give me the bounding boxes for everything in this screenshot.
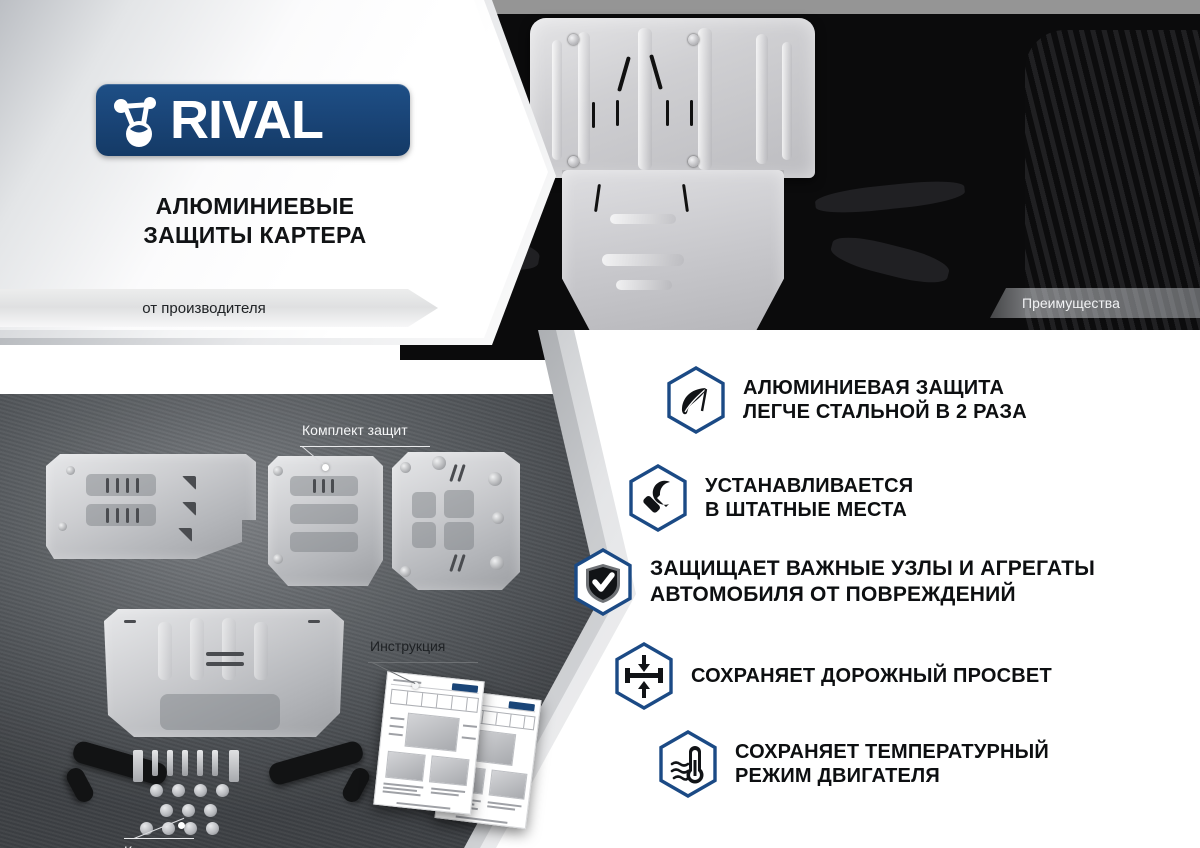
shield-check-icon xyxy=(572,548,634,616)
hardware-washer xyxy=(184,822,197,835)
hardware-screw xyxy=(197,750,203,776)
thermometer-icon xyxy=(657,730,719,798)
feature-item-protection: ЗАЩИЩАЕТ ВАЖНЫЕ УЗЛЫ И АГРЕГАТЫ АВТОМОБИ… xyxy=(572,548,1095,616)
hardware-screw xyxy=(212,750,218,776)
feature-item-fitment: УСТАНАВЛИВАЕТСЯ В ШТАТНЫЕ МЕСТА xyxy=(627,464,913,532)
callout-manual: Инструкция xyxy=(370,638,445,654)
advantages-badge: Преимущества xyxy=(990,288,1200,318)
feature-line2: АВТОМОБИЛЯ ОТ ПОВРЕЖДЕНИЙ xyxy=(650,582,1095,608)
hardware-strip xyxy=(133,750,143,782)
page-title-line1: АЛЮМИНИЕВЫЕ xyxy=(60,192,450,221)
feature-text: СОХРАНЯЕТ ТЕМПЕРАТУРНЫЙ РЕЖИМ ДВИГАТЕЛЯ xyxy=(735,740,1049,789)
feature-line1: ЗАЩИЩАЕТ ВАЖНЫЕ УЗЛЫ И АГРЕГАТЫ xyxy=(650,556,1095,582)
hardware-washer xyxy=(206,822,219,835)
subtitle-text: от производителя xyxy=(0,289,408,327)
page-title-line2: ЗАЩИТЫ КАРТЕРА xyxy=(60,221,450,250)
callout-hardware: Крепеж xyxy=(124,843,172,848)
poster-root: Преимущества RIVAL АЛЮМИНИЕВЫЕ ЗАЩИТЫ КА… xyxy=(0,0,1200,848)
feature-line2: ЛЕГЧЕ СТАЛЬНОЙ В 2 РАЗА xyxy=(743,400,1027,424)
feature-line1: УСТАНАВЛИВАЕТСЯ xyxy=(705,474,913,498)
manual-callout-rule xyxy=(368,662,478,663)
feature-text: УСТАНАВЛИВАЕТСЯ В ШТАТНЫЕ МЕСТА xyxy=(705,474,913,523)
hardware-screw xyxy=(182,750,188,776)
instruction-sheet-front xyxy=(373,671,484,815)
installed-skid-plate xyxy=(530,18,815,343)
callout-kit: Комплект защит xyxy=(302,422,408,438)
page-title: АЛЮМИНИЕВЫЕ ЗАЩИТЫ КАРТЕРА xyxy=(60,192,450,251)
hardware-callout-rule xyxy=(124,838,194,839)
advantages-badge-label: Преимущества xyxy=(1022,295,1120,311)
suspension-arm xyxy=(814,177,966,217)
feature-item-temperature: СОХРАНЯЕТ ТЕМПЕРАТУРНЫЙ РЕЖИМ ДВИГАТЕЛЯ xyxy=(657,730,1049,798)
hardware-washer xyxy=(160,804,173,817)
hardware-screw xyxy=(152,750,158,776)
hardware-callout-dot xyxy=(178,822,185,829)
feature-line1: АЛЮМИНИЕВАЯ ЗАЩИТА xyxy=(743,376,1027,400)
photo-top-edge xyxy=(400,0,1200,14)
hardware-screw xyxy=(167,750,173,776)
feature-text: ЗАЩИЩАЕТ ВАЖНЫЕ УЗЛЫ И АГРЕГАТЫ АВТОМОБИ… xyxy=(650,556,1095,607)
hardware-washer xyxy=(172,784,185,797)
feature-line1: СОХРАНЯЕТ ДОРОЖНЫЙ ПРОСВЕТ xyxy=(691,664,1052,688)
feature-line2: РЕЖИМ ДВИГАТЕЛЯ xyxy=(735,764,1049,788)
feature-text: СОХРАНЯЕТ ДОРОЖНЫЙ ПРОСВЕТ xyxy=(691,664,1052,688)
suspension-arm xyxy=(828,231,952,289)
rival-logo-text: RIVAL xyxy=(170,93,323,147)
feature-item-clearance: СОХРАНЯЕТ ДОРОЖНЫЙ ПРОСВЕТ xyxy=(613,642,1052,710)
wrench-icon xyxy=(627,464,689,532)
rival-logo[interactable]: RIVAL xyxy=(96,84,410,156)
hardware-washer xyxy=(182,804,195,817)
feature-text: АЛЮМИНИЕВАЯ ЗАЩИТА ЛЕГЧЕ СТАЛЬНОЙ В 2 РА… xyxy=(743,376,1027,425)
hardware-strip xyxy=(229,750,239,782)
kit-callout-rule xyxy=(300,446,430,447)
clearance-icon xyxy=(613,642,675,710)
hardware-washer xyxy=(150,784,163,797)
kit-callout-dot xyxy=(322,464,329,471)
hero-card xyxy=(0,0,536,330)
feature-item-weight: АЛЮМИНИЕВАЯ ЗАЩИТА ЛЕГЧЕ СТАЛЬНОЙ В 2 РА… xyxy=(665,366,1027,434)
molecule-icon xyxy=(106,89,168,151)
feature-line2: В ШТАТНЫЕ МЕСТА xyxy=(705,498,913,522)
feature-line1: СОХРАНЯЕТ ТЕМПЕРАТУРНЫЙ xyxy=(735,740,1049,764)
leaf-icon xyxy=(665,366,727,434)
hardware-washer xyxy=(204,804,217,817)
hardware-washer xyxy=(194,784,207,797)
features-list: АЛЮМИНИЕВАЯ ЗАЩИТА ЛЕГЧЕ СТАЛЬНОЙ В 2 РА… xyxy=(565,352,1200,828)
hardware-washer xyxy=(216,784,229,797)
